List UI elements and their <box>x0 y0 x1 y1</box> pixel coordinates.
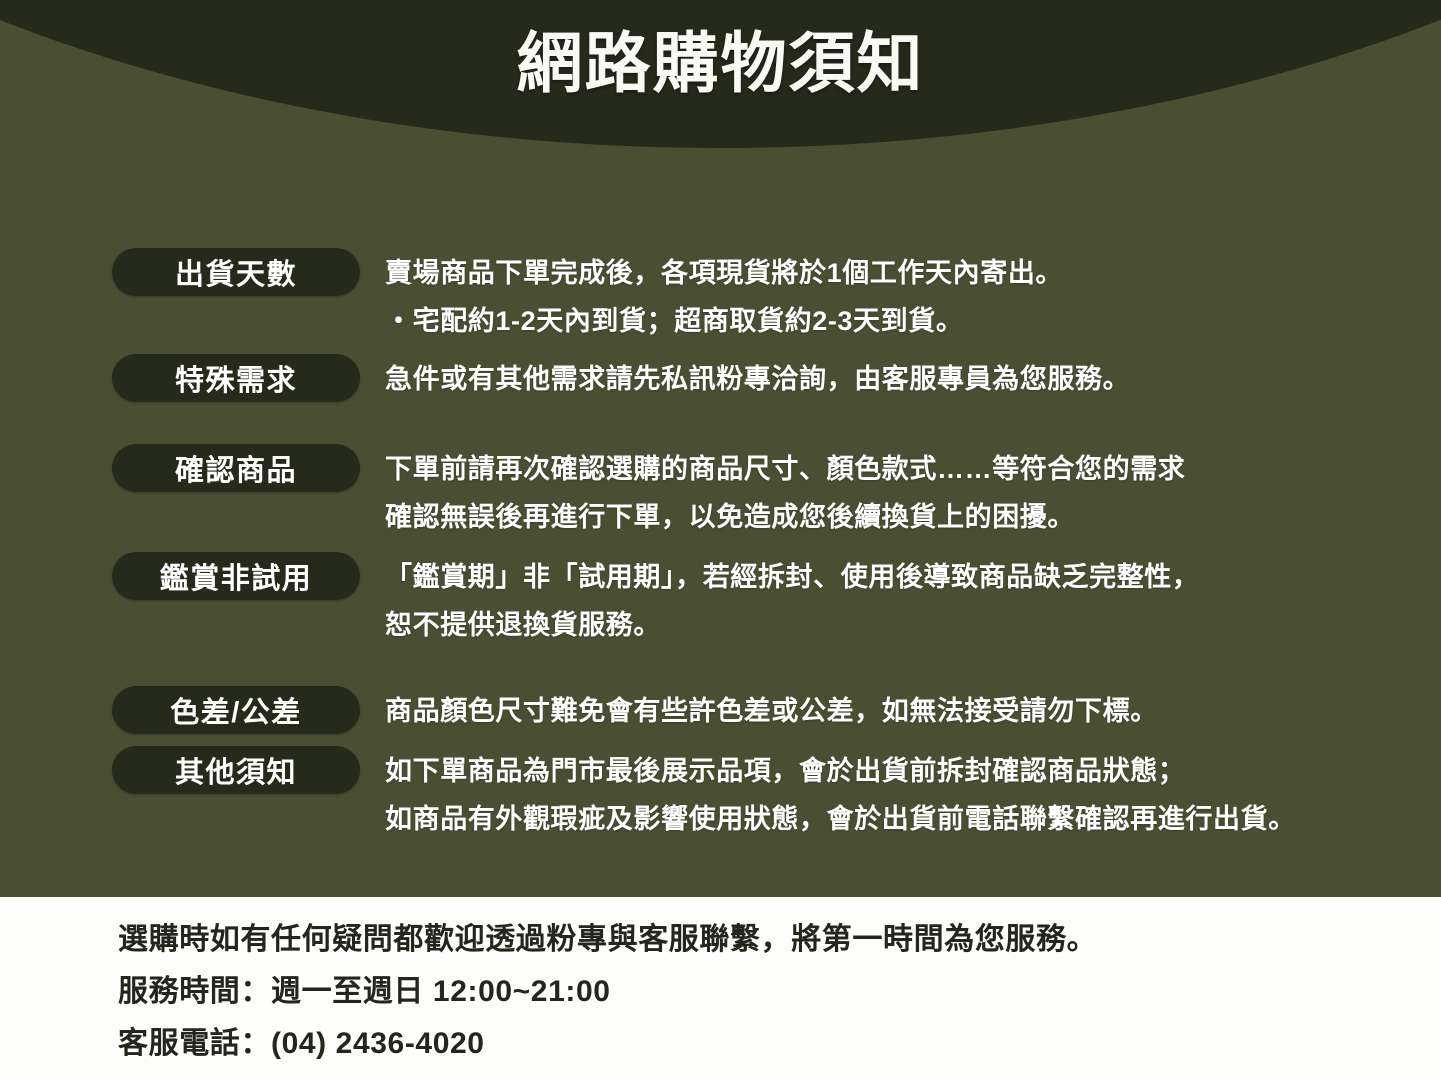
notice-label-badge: 色差/公差 <box>112 686 360 734</box>
footer-contact-section: 選購時如有任何疑問都歡迎透過粉專與客服聯繫，將第一時間為您服務。 服務時間：週一… <box>0 897 1441 1080</box>
notice-label-badge: 鑑賞非試用 <box>112 552 360 600</box>
notice-row: 其他須知 如下單商品為門市最後展示品項，會於出貨前拆封確認商品狀態； 如商品有外… <box>112 746 1421 843</box>
notice-label-badge: 其他須知 <box>112 746 360 794</box>
footer-text-block: 選購時如有任何疑問都歡迎透過粉專與客服聯繫，將第一時間為您服務。 服務時間：週一… <box>118 914 1097 1070</box>
notice-body: 「鑑賞期」非「試用期」，若經拆封、使用後導致商品缺乏完整性， 恕不提供退換貨服務… <box>385 552 1200 649</box>
notice-label-badge: 確認商品 <box>112 444 360 492</box>
notice-rows: 出貨天數 賣場商品下單完成後，各項現貨將於1個工作天內寄出。 ・宅配約1-2天內… <box>0 0 1441 897</box>
notice-line: 如商品有外觀瑕疵及影響使用狀態，會於出貨前電話聯繫確認再進行出貨。 <box>385 795 1296 843</box>
shopping-notice-page: 網路購物須知 出貨天數 賣場商品下單完成後，各項現貨將於1個工作天內寄出。 ・宅… <box>0 0 1441 1080</box>
notice-row: 鑑賞非試用 「鑑賞期」非「試用期」，若經拆封、使用後導致商品缺乏完整性， 恕不提… <box>112 552 1421 649</box>
footer-line-hours: 服務時間：週一至週日 12:00~21:00 <box>118 966 1097 1018</box>
notice-label-badge: 特殊需求 <box>112 354 360 402</box>
notice-body: 商品顏色尺寸難免會有些許色差或公差，如無法接受請勿下標。 <box>385 686 1158 735</box>
notice-line: 「鑑賞期」非「試用期」，若經拆封、使用後導致商品缺乏完整性， <box>385 553 1200 601</box>
notice-row: 出貨天數 賣場商品下單完成後，各項現貨將於1個工作天內寄出。 ・宅配約1-2天內… <box>112 248 1421 345</box>
notice-line: 商品顏色尺寸難免會有些許色差或公差，如無法接受請勿下標。 <box>385 687 1158 735</box>
notice-row: 特殊需求 急件或有其他需求請先私訊粉專洽詢，由客服專員為您服務。 <box>112 354 1421 403</box>
notice-line: 急件或有其他需求請先私訊粉專洽詢，由客服專員為您服務。 <box>385 355 1130 403</box>
notice-line: 下單前請再次確認選購的商品尺寸、顏色款式……等符合您的需求 <box>385 445 1185 493</box>
footer-line-service: 選購時如有任何疑問都歡迎透過粉專與客服聯繫，將第一時間為您服務。 <box>118 914 1097 966</box>
notice-line: 賣場商品下單完成後，各項現貨將於1個工作天內寄出。 <box>385 249 1063 297</box>
footer-line-phone: 客服電話：(04) 2436-4020 <box>118 1018 1097 1070</box>
notice-label-badge: 出貨天數 <box>112 248 360 296</box>
notice-body: 下單前請再次確認選購的商品尺寸、顏色款式……等符合您的需求 確認無誤後再進行下單… <box>385 444 1185 541</box>
notice-body: 如下單商品為門市最後展示品項，會於出貨前拆封確認商品狀態； 如商品有外觀瑕疵及影… <box>385 746 1296 843</box>
notice-line: ・宅配約1-2天內到貨；超商取貨約2-3天到貨。 <box>385 297 1063 345</box>
notice-body: 急件或有其他需求請先私訊粉專洽詢，由客服專員為您服務。 <box>385 354 1130 403</box>
notice-row: 色差/公差 商品顏色尺寸難免會有些許色差或公差，如無法接受請勿下標。 <box>112 686 1421 735</box>
notice-line: 確認無誤後再進行下單，以免造成您後續換貨上的困擾。 <box>385 493 1185 541</box>
notice-line: 恕不提供退換貨服務。 <box>385 601 1200 649</box>
notice-row: 確認商品 下單前請再次確認選購的商品尺寸、顏色款式……等符合您的需求 確認無誤後… <box>112 444 1421 541</box>
notice-body: 賣場商品下單完成後，各項現貨將於1個工作天內寄出。 ・宅配約1-2天內到貨；超商… <box>385 248 1063 345</box>
notice-line: 如下單商品為門市最後展示品項，會於出貨前拆封確認商品狀態； <box>385 747 1296 795</box>
